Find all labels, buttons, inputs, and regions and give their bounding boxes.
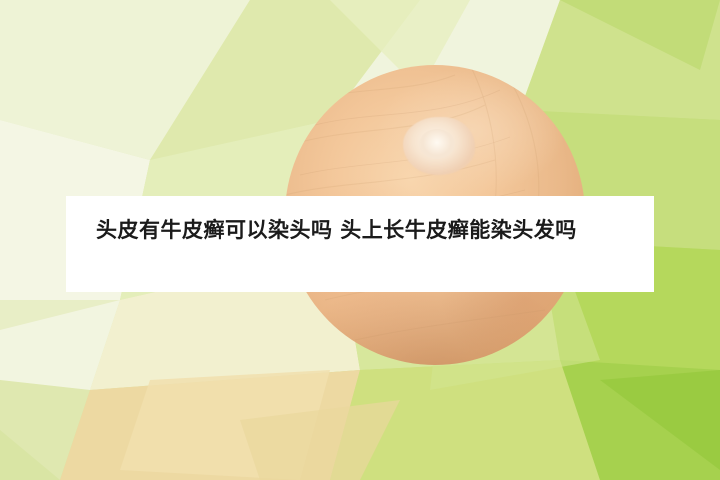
caption-title: 头皮有牛皮癣可以染头吗 头上长牛皮癣能染头发吗: [96, 212, 636, 248]
image-canvas: 头皮有牛皮癣可以染头吗 头上长牛皮癣能染头发吗: [0, 0, 720, 480]
